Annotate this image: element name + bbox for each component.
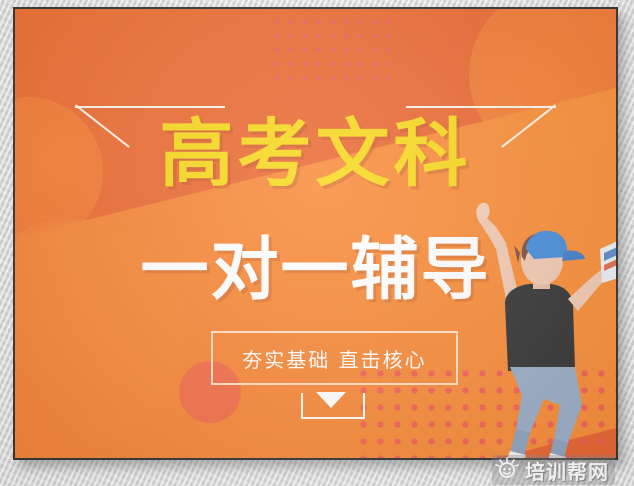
image-canvas: 高考文科 一对一辅导 夯实基础 直击核心: [0, 0, 634, 486]
tagline-text: 夯实基础 直击核心: [242, 344, 426, 373]
poster-frame: 高考文科 一对一辅导 夯实基础 直击核心: [13, 7, 618, 460]
watermark: 培训帮网: [492, 455, 615, 485]
tagline-box: 夯实基础 直击核心: [211, 331, 458, 385]
smiley-sun-face-icon: [495, 457, 519, 483]
watermark-label: 培训帮网: [525, 456, 609, 485]
bracket-right-horizontal: [406, 106, 556, 108]
dot-grid-pink-icon: [270, 15, 390, 87]
bracket-left-horizontal: [75, 106, 225, 108]
poster-background: 高考文科 一对一辅导 夯实基础 直击核心: [15, 9, 616, 458]
student-illustration: [472, 191, 616, 458]
chevron-triangle: [316, 392, 346, 408]
headline-main: 高考文科: [15, 117, 616, 191]
headline-sub: 一对一辅导: [15, 237, 616, 305]
chevron-down-icon: [301, 393, 361, 427]
